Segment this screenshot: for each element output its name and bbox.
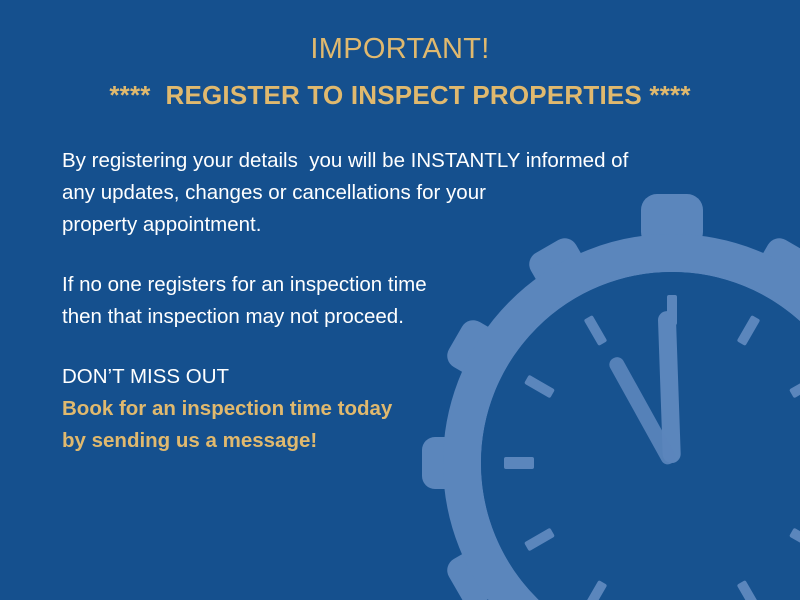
paragraph-line: any updates, changes or cancellations fo… <box>62 177 722 209</box>
paragraph-line: By registering your details you will be … <box>62 145 722 177</box>
paragraph-line: If no one registers for an inspection ti… <box>62 269 722 301</box>
page-title-register: **** REGISTER TO INSPECT PROPERTIES **** <box>0 75 800 115</box>
body-copy: By registering your details you will be … <box>62 145 722 457</box>
cta-dont-miss-out: DON’T MISS OUT <box>62 361 722 393</box>
header: IMPORTANT! **** REGISTER TO INSPECT PROP… <box>0 30 800 115</box>
paragraph-registering-details: By registering your details you will be … <box>62 145 722 241</box>
page-title-important: IMPORTANT! <box>0 30 800 68</box>
slide-canvas: IMPORTANT! **** REGISTER TO INSPECT PROP… <box>0 0 800 600</box>
cta-send-message: by sending us a message! <box>62 425 722 457</box>
paragraph-line: then that inspection may not proceed. <box>62 301 722 333</box>
call-to-action-block: DON’T MISS OUT Book for an inspection ti… <box>62 361 722 457</box>
cta-book-inspection: Book for an inspection time today <box>62 393 722 425</box>
paragraph-line: property appointment. <box>62 209 722 241</box>
paragraph-no-registration-warning: If no one registers for an inspection ti… <box>62 269 722 333</box>
